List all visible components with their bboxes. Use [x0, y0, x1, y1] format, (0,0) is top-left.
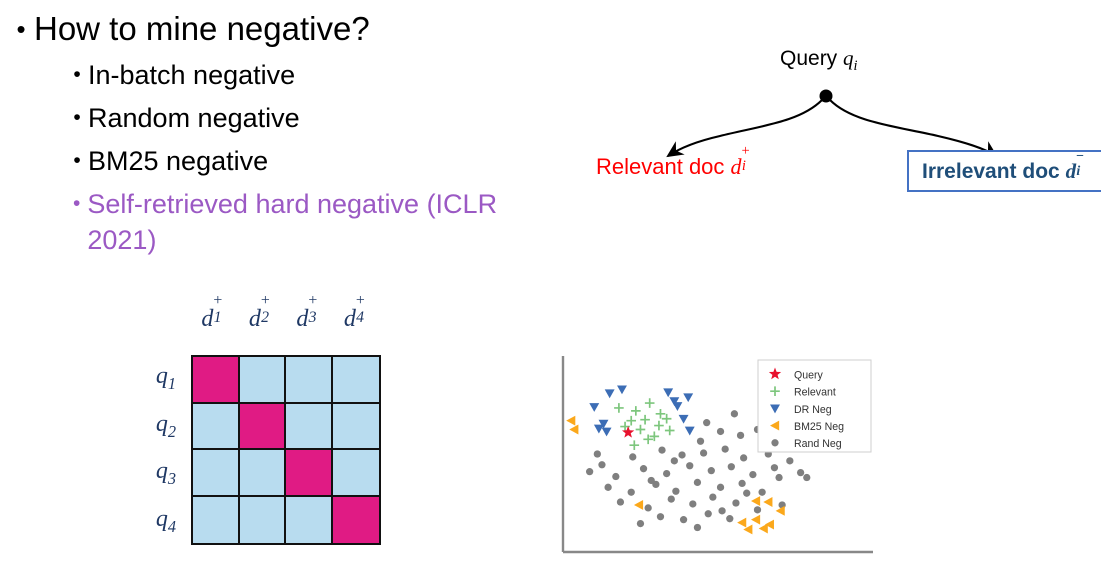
- point-circle: [648, 477, 655, 484]
- main-bullet-text: How to mine negative?: [34, 8, 370, 50]
- matrix-cell-negative[interactable]: [286, 497, 333, 544]
- bullet-dot-icon: •: [66, 143, 88, 179]
- point-circle: [728, 463, 735, 470]
- sub-bullet-text: In-batch negative: [88, 57, 295, 93]
- point-circle: [598, 461, 605, 468]
- matrix-cell-positive[interactable]: [333, 497, 380, 544]
- point-plus: [656, 409, 666, 419]
- point-circle: [689, 500, 696, 507]
- point-circle: [680, 516, 687, 523]
- query-label-text: Query: [780, 47, 837, 70]
- scatter-svg: QueryRelevantDR NegBM25 NegRand Neg: [555, 352, 880, 564]
- matrix-col-header: d+3: [286, 302, 334, 333]
- matrix-row-header: q2: [130, 403, 188, 451]
- point-plus: [614, 403, 624, 413]
- point-triangle-down: [589, 403, 599, 412]
- relevant-doc-text: Relevant doc: [596, 154, 724, 179]
- sub-bullet-text: BM25 negative: [88, 143, 268, 179]
- point-circle: [722, 445, 729, 452]
- bullet-dot-icon: •: [66, 57, 88, 93]
- legend-label: Rand Neg: [794, 438, 842, 450]
- point-circle: [718, 507, 725, 514]
- sub-bullet-text: Self-retrieved hard negative (ICLR 2021): [87, 186, 560, 258]
- point-circle: [726, 515, 733, 522]
- point-star: [622, 426, 634, 438]
- matrix-cell-negative[interactable]: [333, 357, 380, 404]
- point-circle: [717, 428, 724, 435]
- relevant-doc-label: Relevant doc d+i: [596, 152, 755, 180]
- query-label: Query qi: [780, 46, 858, 75]
- point-triangle-left: [566, 416, 575, 426]
- point-circle: [743, 490, 750, 497]
- in-batch-negative-matrix: d+1d+2d+3d+4 q1q2q3q4: [130, 300, 400, 560]
- query-symbol: qi: [843, 46, 857, 70]
- point-circle: [629, 453, 636, 460]
- matrix-cell-negative[interactable]: [240, 497, 287, 544]
- point-triangle-left: [634, 500, 643, 510]
- matrix-row-header: q1: [130, 355, 188, 403]
- matrix-cell-negative[interactable]: [193, 404, 240, 451]
- point-circle: [612, 473, 619, 480]
- point-circle: [686, 462, 693, 469]
- point-triangle-left: [763, 497, 772, 507]
- legend-marker-circle: [771, 439, 778, 446]
- point-circle: [668, 495, 675, 502]
- point-circle: [697, 438, 704, 445]
- point-circle: [758, 489, 765, 496]
- point-circle: [705, 510, 712, 517]
- point-circle: [771, 464, 778, 471]
- point-circle: [604, 484, 611, 491]
- point-circle: [671, 457, 678, 464]
- irrelevant-doc-box: Irrelevant doc d−i: [907, 150, 1101, 192]
- bullet-dot-icon: •: [66, 100, 88, 136]
- point-plus: [626, 416, 636, 426]
- sub-bullet-in-batch: • In-batch negative: [66, 57, 560, 93]
- point-triangle-down: [594, 425, 604, 434]
- bullet-dot-icon: •: [66, 186, 87, 222]
- chart-legend: QueryRelevantDR NegBM25 NegRand Neg: [758, 360, 871, 452]
- irrelevant-doc-text: Irrelevant doc: [922, 160, 1060, 183]
- point-triangle-down: [617, 385, 627, 394]
- irrelevant-doc-label: Irrelevant doc d−i: [922, 160, 1089, 183]
- matrix-col-header: d+2: [239, 302, 287, 333]
- point-plus: [640, 415, 650, 425]
- query-node-dot-icon: [820, 90, 833, 103]
- matrix-cell-negative[interactable]: [333, 404, 380, 451]
- point-circle: [803, 474, 810, 481]
- arrow-to-irrelevant: [830, 100, 996, 156]
- matrix-col-header: d+1: [191, 302, 239, 333]
- point-circle: [749, 471, 756, 478]
- bullet-list: • How to mine negative? • In-batch negat…: [0, 0, 560, 258]
- scatter-series-query: [622, 426, 634, 438]
- sub-bullet-bm25: • BM25 negative: [66, 143, 560, 179]
- point-plus: [630, 440, 640, 450]
- point-triangle-down: [685, 427, 695, 436]
- matrix-cell-positive[interactable]: [286, 450, 333, 497]
- point-circle: [737, 432, 744, 439]
- sub-bullet-text: Random negative: [88, 100, 300, 136]
- sub-bullet-random: • Random negative: [66, 100, 560, 136]
- point-circle: [628, 489, 635, 496]
- scatter-series-relevant: [614, 398, 674, 450]
- slide-canvas: • How to mine negative? • In-batch negat…: [0, 0, 1101, 566]
- point-triangle-down: [605, 389, 615, 398]
- matrix-cell-negative[interactable]: [193, 497, 240, 544]
- matrix-cell-negative[interactable]: [193, 450, 240, 497]
- point-triangle-down: [602, 428, 612, 437]
- irrelevant-doc-symbol: d−i: [1066, 159, 1090, 183]
- point-circle: [700, 449, 707, 456]
- point-circle: [617, 498, 624, 505]
- legend-label: Query: [794, 369, 824, 381]
- point-triangle-left: [751, 496, 760, 506]
- matrix-grid: [191, 355, 381, 545]
- point-circle: [732, 499, 739, 506]
- point-circle: [708, 467, 715, 474]
- point-circle: [657, 513, 664, 520]
- matrix-col-header: d+4: [334, 302, 382, 333]
- matrix-cell-negative[interactable]: [240, 450, 287, 497]
- point-circle: [672, 488, 679, 495]
- matrix-cell-positive[interactable]: [240, 404, 287, 451]
- point-triangle-left: [751, 515, 760, 525]
- matrix-row-header: q4: [130, 498, 188, 546]
- relevant-doc-symbol: d+i: [731, 154, 756, 179]
- main-bullet: • How to mine negative?: [8, 8, 560, 50]
- point-triangle-down: [663, 388, 673, 397]
- matrix-cell-negative[interactable]: [286, 357, 333, 404]
- point-triangle-left: [759, 524, 768, 534]
- point-circle: [645, 504, 652, 511]
- embedding-scatter-plot: QueryRelevantDR NegBM25 NegRand Neg: [555, 352, 880, 564]
- matrix-cell-negative[interactable]: [286, 404, 333, 451]
- point-plus: [645, 398, 655, 408]
- point-plus: [631, 406, 641, 416]
- point-circle: [740, 454, 747, 461]
- point-triangle-left: [737, 518, 746, 528]
- point-circle: [678, 451, 685, 458]
- point-circle: [586, 468, 593, 475]
- point-circle: [694, 524, 701, 531]
- point-circle: [709, 493, 716, 500]
- matrix-cell-positive[interactable]: [193, 357, 240, 404]
- legend-label: DR Neg: [794, 404, 832, 416]
- point-triangle-left: [569, 425, 578, 435]
- legend-label: BM25 Neg: [794, 421, 844, 433]
- point-circle: [775, 474, 782, 481]
- point-circle: [658, 446, 665, 453]
- bullet-dot-icon: •: [8, 8, 34, 50]
- point-circle: [738, 480, 745, 487]
- point-triangle-down: [683, 393, 693, 402]
- point-triangle-down: [679, 415, 689, 424]
- point-circle: [797, 469, 804, 476]
- point-plus: [636, 425, 646, 435]
- point-plus: [662, 414, 672, 424]
- matrix-row-headers: q1q2q3q4: [130, 355, 188, 545]
- point-circle: [663, 470, 670, 477]
- matrix-cell-negative[interactable]: [333, 450, 380, 497]
- point-plus: [654, 421, 664, 431]
- query-branch-diagram: Query qi Relevant doc d+i Irrelevant doc…: [560, 44, 1101, 214]
- point-plus: [665, 426, 675, 436]
- point-circle: [594, 450, 601, 457]
- matrix-column-headers: d+1d+2d+3d+4: [191, 302, 381, 333]
- point-circle: [637, 520, 644, 527]
- point-circle: [786, 457, 793, 464]
- point-circle: [717, 484, 724, 491]
- legend-label: Relevant: [794, 387, 836, 399]
- matrix-cell-negative[interactable]: [240, 357, 287, 404]
- matrix-row-header: q3: [130, 450, 188, 498]
- point-circle: [731, 410, 738, 417]
- point-circle: [703, 419, 710, 426]
- point-circle: [694, 479, 701, 486]
- sub-bullet-self-retrieved: • Self-retrieved hard negative (ICLR 202…: [66, 186, 560, 258]
- point-circle: [640, 465, 647, 472]
- point-circle: [754, 506, 761, 513]
